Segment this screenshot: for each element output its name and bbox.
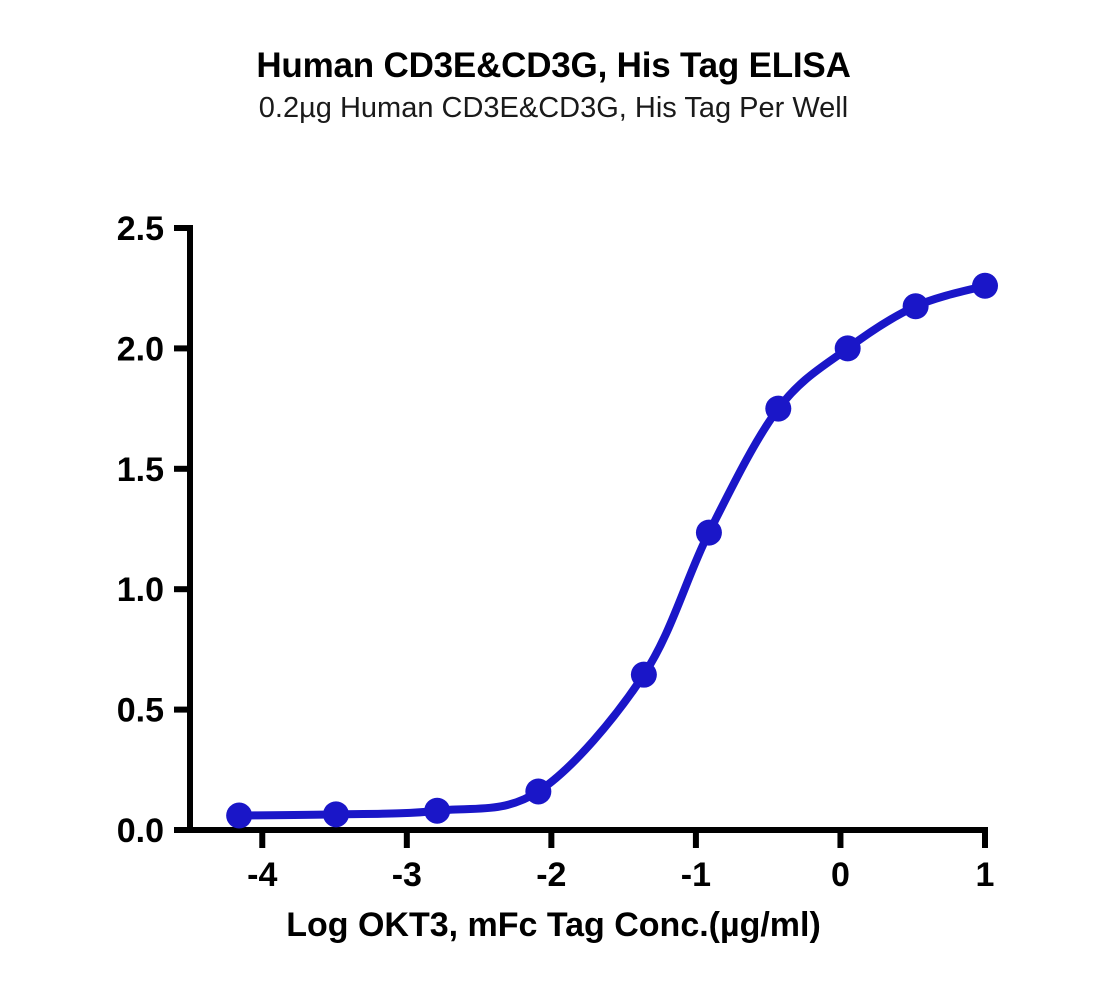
x-tick-label: -1	[681, 856, 711, 894]
x-tick-label: -2	[536, 856, 566, 894]
y-tick-label: 0.0	[117, 812, 164, 850]
data-point	[226, 803, 252, 829]
x-tick-label: 1	[976, 856, 995, 894]
x-axis-label: Log OKT3, mFc Tag Conc.(µg/ml)	[0, 906, 1107, 945]
y-tick-label: 2.5	[117, 210, 164, 248]
data-point	[424, 798, 450, 824]
data-point	[903, 293, 929, 319]
data-point	[835, 335, 861, 361]
series-line-0	[239, 286, 985, 816]
y-tick-label: 1.0	[117, 571, 164, 609]
plot-area: 0.00.51.01.52.02.5-4-3-2-101	[0, 0, 1107, 1004]
data-point	[972, 273, 998, 299]
x-tick-label: -4	[247, 856, 277, 894]
chart-figure: Human CD3E&CD3G, His Tag ELISA 0.2µg Hum…	[0, 0, 1107, 1004]
data-point	[323, 801, 349, 827]
x-tick-label: -3	[392, 856, 422, 894]
data-point	[525, 778, 551, 804]
y-tick-label: 1.5	[117, 451, 164, 489]
y-tick-label: 2.0	[117, 330, 164, 368]
data-point	[696, 520, 722, 546]
data-point	[765, 396, 791, 422]
x-tick-label: 0	[831, 856, 850, 894]
data-point	[631, 662, 657, 688]
y-tick-label: 0.5	[117, 692, 164, 730]
